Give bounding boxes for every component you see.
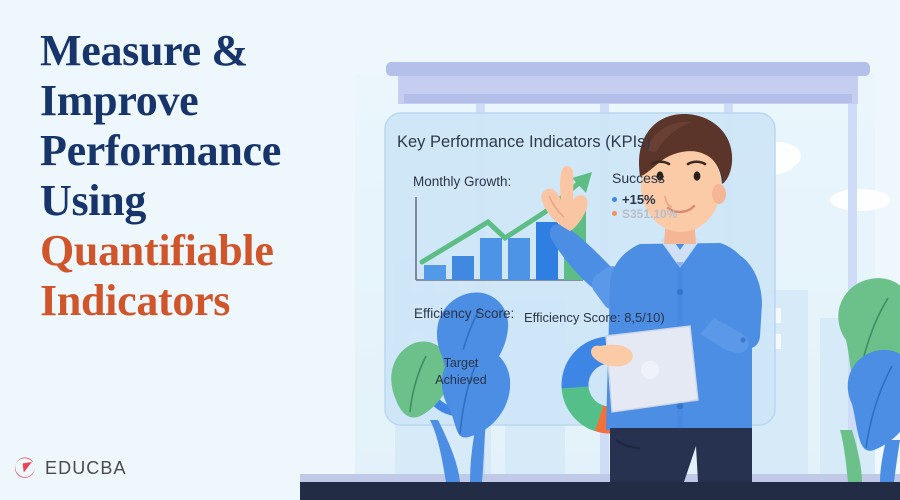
headline-line-4: Quantifiable [40, 226, 370, 276]
headline-line-3: Using [40, 176, 370, 226]
efficiency-label-left: Efficiency Score: [414, 306, 514, 321]
success-legend-title: Success [612, 170, 665, 186]
efficiency-label-right: Efficiency Score: 8,5/10) [524, 310, 665, 325]
headline-line-0: Measure & [40, 26, 370, 76]
monthly-growth-label: Monthly Growth: [413, 174, 511, 189]
brand-wordmark: EDUCBA [45, 458, 127, 479]
kpi-illustration [300, 0, 900, 500]
page-title: Measure & Improve Performance Using Quan… [40, 26, 370, 326]
headline-line-5: Indicators [40, 276, 370, 326]
floor-bar [300, 482, 900, 500]
person-trousers [610, 428, 752, 482]
window-blind [386, 62, 870, 104]
gauge-center-label: Target Achieved [421, 355, 501, 388]
banner-canvas: Key Performance Indicators (KPIs) Monthl… [0, 0, 900, 500]
legend-label-1: S351.10% [622, 207, 677, 221]
brand-logo[interactable]: EDUCBA [12, 455, 127, 481]
legend-dot-positive [612, 197, 617, 202]
legend-label-0: +15% [622, 192, 656, 207]
headline-line-2: Performance [40, 126, 370, 176]
headline-line-1: Improve [40, 76, 370, 126]
legend-dot-secondary [612, 211, 617, 216]
tablet-device [606, 326, 698, 412]
kpi-board-title: Key Performance Indicators (KPIs) [397, 133, 651, 152]
educba-circle-play-logo [12, 455, 38, 481]
